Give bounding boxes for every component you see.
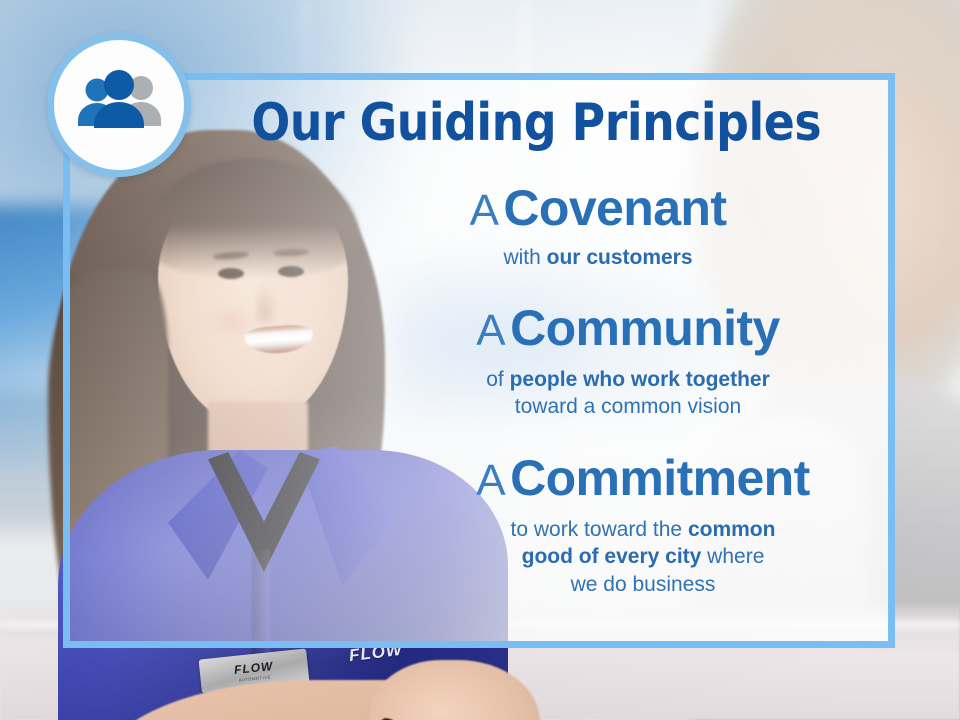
guiding-principles-graphic: FLOW AUTOMOTIVE FLOW bbox=[0, 0, 960, 720]
subtext-pre: of bbox=[486, 368, 509, 391]
subtext-pre: with bbox=[503, 246, 546, 269]
text-layer: Our Guiding Principles A Covenant with o… bbox=[63, 73, 895, 648]
principle-word: Commitment bbox=[510, 450, 810, 506]
principle-commitment: A Commitment to work toward the common g… bbox=[393, 453, 893, 598]
principle-heading: A Commitment bbox=[393, 453, 893, 504]
subtext-post: where bbox=[701, 545, 764, 568]
principle-subtext: to work toward the common good of every … bbox=[393, 516, 893, 598]
principle-heading: A Covenant bbox=[363, 183, 833, 234]
principle-covenant: A Covenant with our customers bbox=[363, 183, 833, 271]
subtext-line2: toward a common vision bbox=[515, 395, 741, 418]
subtext-bold: our customers bbox=[547, 246, 693, 269]
page-title: Our Guiding Principles bbox=[251, 93, 814, 153]
principle-word: Covenant bbox=[503, 180, 726, 236]
principle-subtext: of people who work together toward a com… bbox=[393, 366, 863, 421]
subtext-pre: to work toward the bbox=[511, 518, 688, 541]
principle-subtext: with our customers bbox=[363, 244, 833, 271]
subtext-bold: common bbox=[688, 518, 776, 541]
subtext-bold2: good of every city bbox=[522, 545, 702, 568]
principle-article: A bbox=[470, 186, 499, 235]
principle-article: A bbox=[476, 306, 505, 355]
principle-community: A Community of people who work together … bbox=[393, 303, 863, 421]
principle-article: A bbox=[476, 456, 505, 505]
subtext-bold: people who work together bbox=[510, 368, 770, 391]
principle-word: Community bbox=[510, 300, 780, 356]
principle-heading: A Community bbox=[393, 303, 863, 354]
subtext-line3: we do business bbox=[571, 573, 716, 596]
